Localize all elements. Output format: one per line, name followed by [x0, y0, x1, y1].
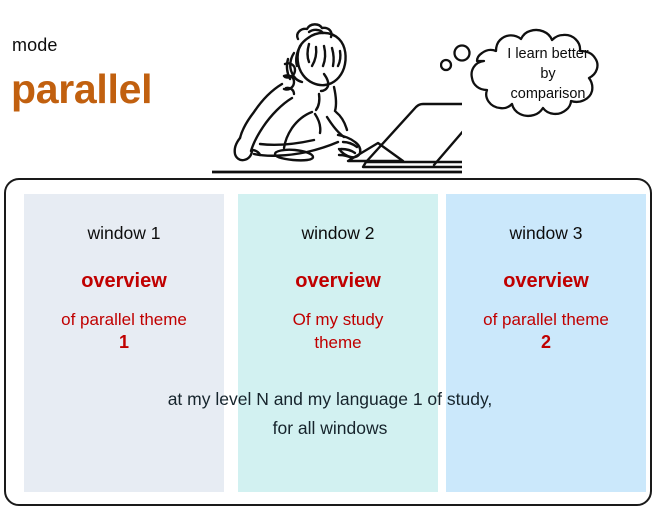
window-1-subtitle-line-1: of parallel theme	[61, 310, 187, 329]
page-title: parallel	[11, 66, 152, 112]
window-column-1[interactable]: window 1 overview of parallel theme 1	[24, 194, 224, 492]
window-columns: window 1 overview of parallel theme 1 wi…	[24, 194, 640, 492]
window-3-subtitle-line-2: 2	[446, 331, 646, 354]
window-2-heading: overview	[238, 269, 438, 293]
window-3-subtitle: of parallel theme 2	[446, 308, 646, 354]
windows-panel: window 1 overview of parallel theme 1 wi…	[4, 178, 652, 506]
window-3-heading: overview	[446, 269, 646, 293]
window-2-subtitle: Of my study theme	[238, 308, 438, 354]
window-2-subtitle-line-2: theme	[238, 331, 438, 354]
window-2-label: window 2	[238, 222, 438, 244]
window-column-2-content: window 2 overview Of my study theme	[238, 194, 438, 354]
window-1-subtitle: of parallel theme 1	[24, 308, 224, 354]
window-3-subtitle-line-1: of parallel theme	[483, 310, 609, 329]
window-column-3[interactable]: window 3 overview of parallel theme 2	[446, 194, 646, 492]
thought-bubble-line-3: comparison	[511, 85, 586, 104]
window-1-heading: overview	[24, 269, 224, 293]
window-2-subtitle-line-1: Of my study	[293, 310, 384, 329]
header: mode parallel	[0, 0, 656, 176]
thought-bubble: I learn better by comparison	[440, 5, 656, 137]
window-column-3-content: window 3 overview of parallel theme 2	[446, 194, 646, 354]
thought-bubble-line-2: by	[540, 65, 555, 84]
window-column-2[interactable]: window 2 overview Of my study theme	[238, 194, 438, 492]
window-1-subtitle-line-2: 1	[24, 331, 224, 354]
mode-label: mode	[12, 35, 57, 55]
window-3-label: window 3	[446, 222, 646, 244]
thought-bubble-line-1: I learn better	[507, 45, 588, 64]
person-studying-at-laptop-illustration	[212, 2, 462, 174]
window-column-1-content: window 1 overview of parallel theme 1	[24, 194, 224, 354]
thought-bubble-text: I learn better by comparison	[440, 5, 656, 137]
window-1-label: window 1	[24, 222, 224, 244]
